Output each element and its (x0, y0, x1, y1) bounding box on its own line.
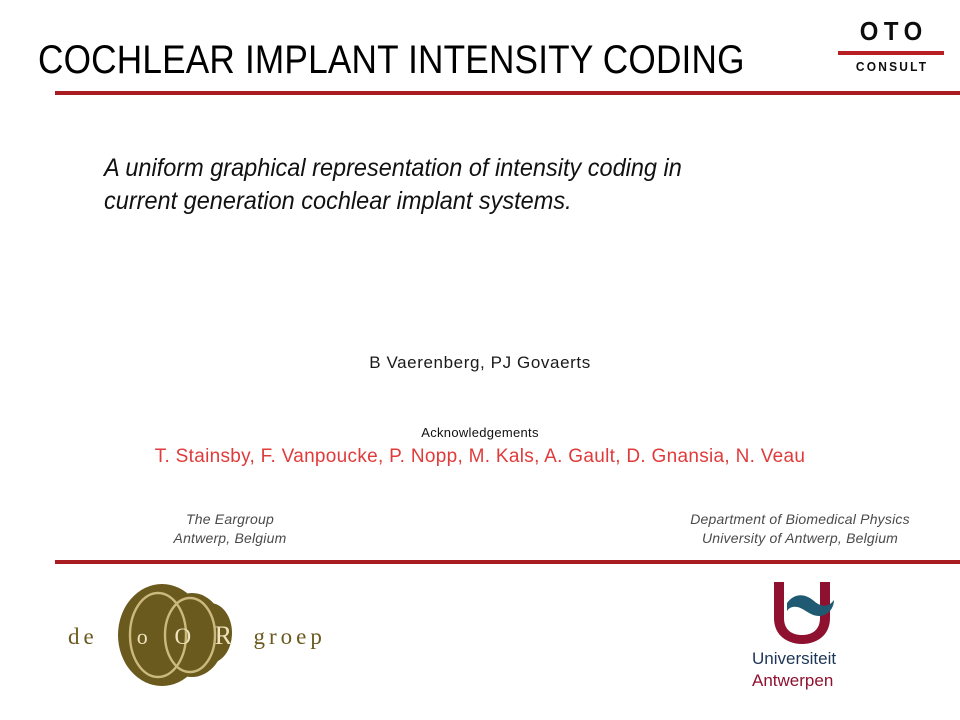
oto-logo-subword: CONSULT (842, 60, 940, 74)
title-slide: COCHLEAR IMPLANT INTENSITY CODING OTO CO… (0, 0, 960, 720)
slide-subtitle: A uniform graphical representation of in… (104, 152, 847, 218)
oor-letter-o-lower: o (125, 585, 159, 689)
oor-prefix-text: de (66, 585, 116, 689)
footer-divider-rule (55, 560, 960, 564)
acknowledgements-block: Acknowledgements T. Stainsby, F. Vanpouc… (0, 424, 960, 469)
university-antwerp-logo: Universiteit Antwerpen (752, 578, 882, 698)
subtitle-line-1: A uniform graphical representation of in… (104, 152, 847, 185)
oor-middle-letters: o O R (122, 584, 244, 689)
affiliation-left-line-2: Antwerp, Belgium (80, 529, 380, 548)
oor-letter-r: R (206, 584, 240, 688)
author-list: B Vaerenberg, PJ Govaerts (0, 352, 960, 374)
uantwerpen-line-1: Universiteit (752, 648, 882, 670)
oto-logo-wordmark: OTO (842, 18, 940, 45)
oto-logo-divider (838, 51, 944, 55)
acknowledgements-names: T. Stainsby, F. Vanpoucke, P. Nopp, M. K… (0, 445, 960, 469)
oor-wordmark: de o O R groep (66, 583, 332, 687)
affiliation-left-line-1: The Eargroup (80, 510, 380, 529)
subtitle-line-2: current generation cochlear implant syst… (104, 185, 847, 218)
oor-letter-o-upper: O (165, 585, 201, 689)
uantwerpen-line-2: Antwerpen (752, 670, 882, 692)
uantwerpen-wordmark: Universiteit Antwerpen (752, 648, 882, 692)
affiliation-right-line-1: Department of Biomedical Physics (650, 510, 950, 529)
slide-header: COCHLEAR IMPLANT INTENSITY CODING OTO CO… (0, 0, 960, 100)
affiliation-right: Department of Biomedical Physics Univers… (650, 510, 950, 548)
header-divider-rule (55, 91, 960, 95)
acknowledgements-heading: Acknowledgements (0, 424, 960, 441)
page-title: COCHLEAR IMPLANT INTENSITY CODING (38, 38, 745, 82)
uantwerpen-u-mark-icon (764, 578, 856, 646)
oto-consult-logo: OTO CONSULT (838, 18, 944, 74)
affiliation-right-line-2: University of Antwerp, Belgium (650, 529, 950, 548)
de-oor-groep-logo: de o O R groep (66, 583, 332, 687)
affiliation-left: The Eargroup Antwerp, Belgium (80, 510, 380, 548)
oor-suffix-text: groep (250, 585, 346, 689)
